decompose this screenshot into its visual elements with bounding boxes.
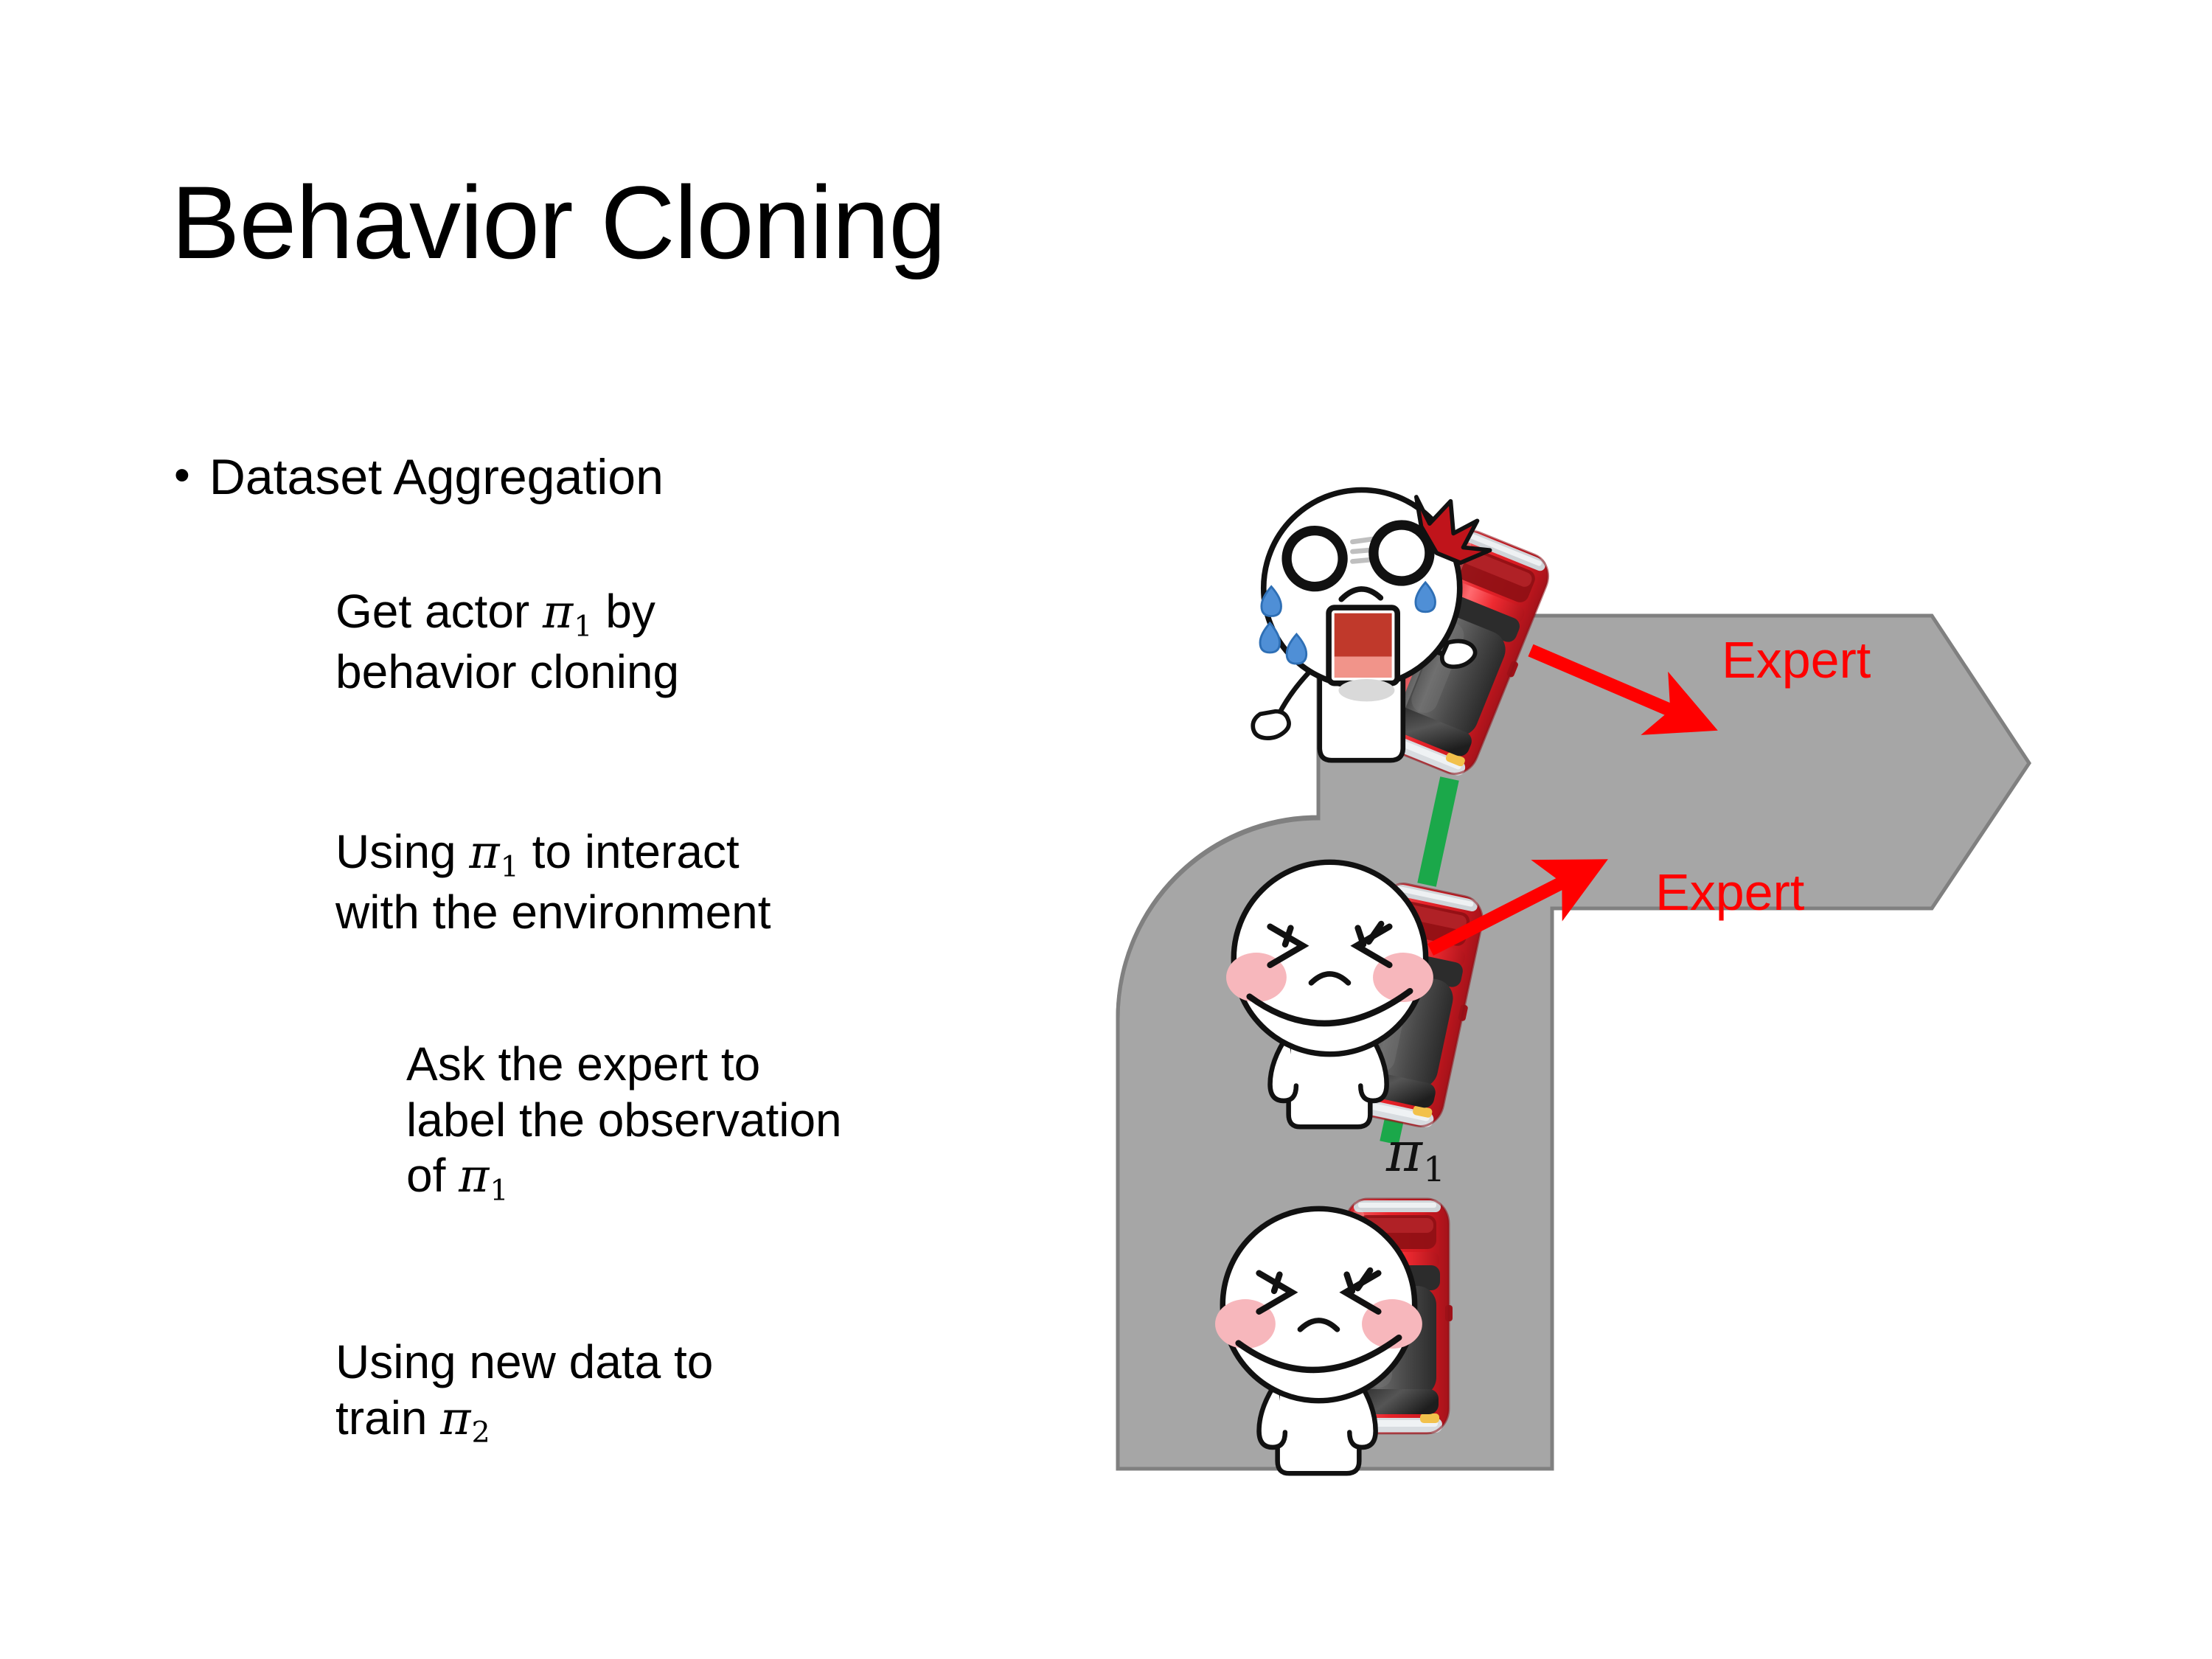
pi-symbol: π [440,1391,470,1445]
paragraph-using-pi1-line-1: Using π1 to interact [335,824,771,885]
paragraph-get-actor-line-2: behavior cloning [335,644,679,700]
paragraph-using-new-data-line-2: train π2 [335,1391,713,1451]
pi-symbol: π [469,825,499,879]
paragraph-using-new-data: Using new data to train π2 [335,1335,713,1450]
pi-subscript: 1 [489,1174,508,1208]
bullet-item-dataset-aggregation: • Dataset Aggregation [174,451,664,504]
text-run: Using [335,825,469,878]
text-run: of [406,1149,459,1202]
text-run: by [592,585,655,638]
expert-label-top: Expert [1722,634,1871,686]
bullet-marker-icon: • [174,453,190,498]
road-scenario-diagram: Expert Expert π1 [1091,457,2072,1504]
pi-subscript: 1 [500,850,519,884]
trajectory-label-pi1: π1 [1386,1124,1445,1187]
paragraph-using-pi1-line-2: with the environment [335,885,771,941]
paragraph-get-actor-line-1: Get actor π1 by [335,584,679,644]
pi-subscript: 1 [573,610,592,644]
pi-symbol: π [459,1149,489,1203]
text-run: Get actor [335,585,543,638]
paragraph-get-actor: Get actor π1 by behavior cloning [335,584,679,700]
paragraph-using-new-data-line-1: Using new data to [335,1335,713,1391]
text-run: train [335,1391,440,1444]
paragraph-using-pi1-interact: Using π1 to interact with the environmen… [335,824,771,940]
pi-subscript: 1 [1422,1150,1445,1190]
text-run: to interact [519,825,740,878]
paragraph-ask-expert-line-1: Ask the expert to [406,1037,842,1093]
pi-symbol: π [543,585,573,639]
paragraph-ask-expert: Ask the expert to label the observation … [406,1037,842,1208]
pi-subscript: 2 [471,1416,490,1450]
page-title: Behavior Cloning [171,171,945,274]
pi-symbol: π [1386,1120,1422,1184]
paragraph-ask-expert-line-3: of π1 [406,1148,842,1208]
bullet-item-label: Dataset Aggregation [209,451,664,504]
expert-label-middle: Expert [1655,866,1804,918]
paragraph-ask-expert-line-2: label the observation [406,1093,842,1149]
